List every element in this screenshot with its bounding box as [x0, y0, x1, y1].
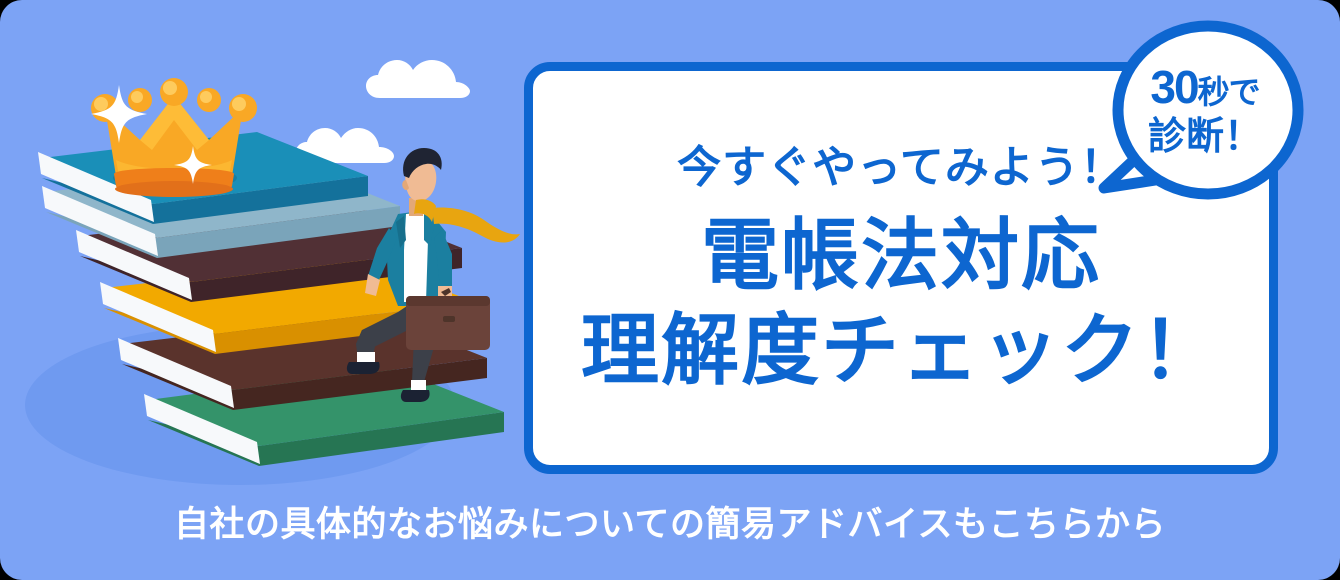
footer-strap-container: 自社の具体的なお悩みについての簡易アドバイスもこちらから	[0, 496, 1340, 547]
books-and-businessman-illustration	[0, 0, 530, 500]
card-headline-line1: 電帳法対応	[701, 208, 1101, 303]
speech-bubble-badge[interactable]: 30秒で 診断！	[1098, 18, 1306, 208]
footer-strap-text: 自社の具体的なお悩みについての簡易アドバイスもこちらから	[174, 496, 1166, 547]
promo-banner[interactable]: 今すぐやってみよう！ 電帳法対応 理解度チェック！ 30秒で 診断！ 自社の具体…	[0, 0, 1340, 580]
card-headline-line2: 理解度チェック！	[581, 303, 1221, 398]
crown-icon	[91, 78, 257, 197]
card-kicker: 今すぐやってみよう！	[677, 144, 1125, 192]
